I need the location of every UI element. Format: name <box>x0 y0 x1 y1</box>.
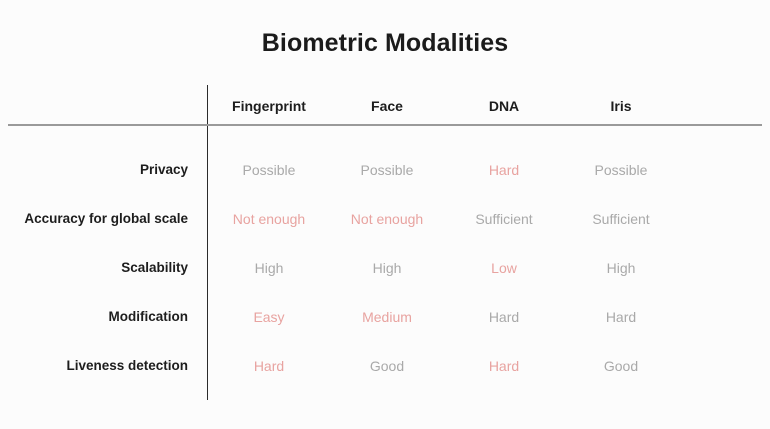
table-row: PrivacyPossiblePossibleHardPossible <box>0 157 770 183</box>
column-header-fingerprint: Fingerprint <box>210 93 328 119</box>
table-cell-dna: Hard <box>446 157 562 183</box>
biometric-modalities-table: Biometric Modalities FingerprintFaceDNAI… <box>0 0 770 429</box>
table-cell-face: Medium <box>328 304 446 330</box>
table-cell-dna: Hard <box>446 304 562 330</box>
table-cell-fingerprint: Easy <box>210 304 328 330</box>
table-cell-fingerprint: Hard <box>210 353 328 379</box>
table-cell-face: Not enough <box>328 206 446 232</box>
table-cell-iris: Hard <box>562 304 680 330</box>
table-row: ModificationEasyMediumHardHard <box>0 304 770 330</box>
row-label: Liveness detection <box>0 353 188 379</box>
table-row: ScalabilityHighHighLowHigh <box>0 255 770 281</box>
table-cell-dna: Low <box>446 255 562 281</box>
table-cell-face: High <box>328 255 446 281</box>
row-label: Scalability <box>0 255 188 281</box>
column-header-iris: Iris <box>562 93 680 119</box>
column-header-face: Face <box>328 93 446 119</box>
table-cell-dna: Sufficient <box>446 206 562 232</box>
table-cell-fingerprint: Possible <box>210 157 328 183</box>
table-cell-fingerprint: Not enough <box>210 206 328 232</box>
table-cell-iris: Good <box>562 353 680 379</box>
table-cell-iris: Possible <box>562 157 680 183</box>
column-header-dna: DNA <box>446 93 562 119</box>
table-cell-face: Possible <box>328 157 446 183</box>
table-cell-iris: Sufficient <box>562 206 680 232</box>
table-cell-iris: High <box>562 255 680 281</box>
row-label: Privacy <box>0 157 188 183</box>
row-label: Modification <box>0 304 188 330</box>
table-cell-fingerprint: High <box>210 255 328 281</box>
table-row: Accuracy for global scaleNot enoughNot e… <box>0 206 770 232</box>
table-area: FingerprintFaceDNAIris PrivacyPossiblePo… <box>0 0 770 429</box>
table-cell-dna: Hard <box>446 353 562 379</box>
row-label: Accuracy for global scale <box>0 206 188 232</box>
table-header-row: FingerprintFaceDNAIris <box>0 93 770 119</box>
table-row: Liveness detectionHardGoodHardGood <box>0 353 770 379</box>
table-cell-face: Good <box>328 353 446 379</box>
